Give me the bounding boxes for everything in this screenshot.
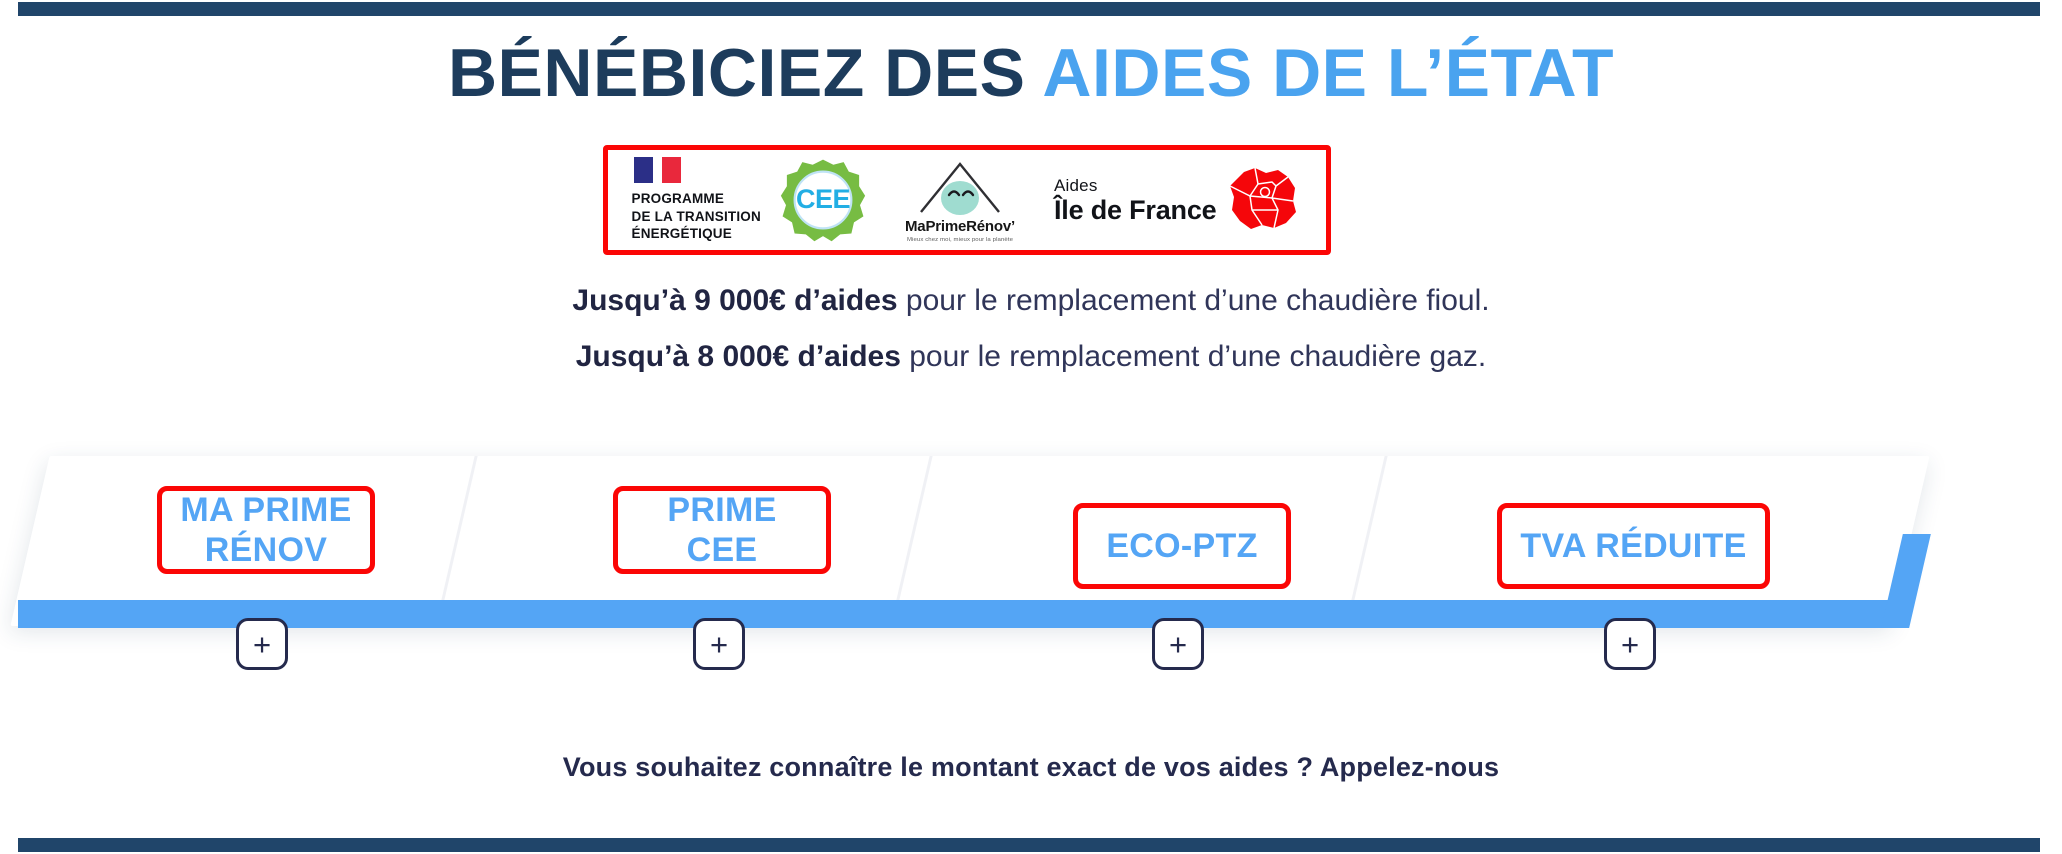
maprimerenov-name: MaPrimeRénov’ [905, 218, 1015, 235]
aid-card-prime-cee[interactable]: PRIME CEE [613, 486, 831, 574]
aid-card-label-line1: MA PRIME [180, 490, 351, 530]
aid-card-label-line1: PRIME [667, 490, 776, 530]
logo-programme-line2: DE LA TRANSITION [632, 208, 761, 226]
ile-de-france-map-icon [1222, 166, 1302, 234]
maprimerenov-tagline: Mieux chez moi, mieux pour la planète [907, 237, 1013, 242]
expand-button-tva-reduite[interactable]: + [1604, 618, 1656, 670]
maprimerenov-house-icon [913, 158, 1007, 216]
idf-big-label: Île de France [1054, 197, 1216, 224]
aid-types-panel: MA PRIME RÉNOV + PRIME CEE + ECO-PTZ + [0, 440, 2062, 660]
logo-programme-transition-energetique: PROGRAMME DE LA TRANSITION ÉNERGÉTIQUE [632, 157, 761, 243]
plus-icon: + [1621, 629, 1639, 660]
logo-programme-line3: ÉNERGÉTIQUE [632, 225, 761, 243]
expand-button-ma-prime-renov[interactable]: + [236, 618, 288, 670]
bottom-navy-rule [18, 838, 2040, 852]
top-navy-rule [18, 2, 2040, 16]
aid-card-label-line1: TVA RÉDUITE [1520, 526, 1746, 566]
page-title-light: AIDES DE L’ÉTAT [1042, 35, 1614, 111]
aides-landing-page: BÉNÉBICIEZ DES AIDES DE L’ÉTAT PROGRAMME… [0, 0, 2062, 854]
expand-button-prime-cee[interactable]: + [693, 618, 745, 670]
french-flag-icon [634, 157, 681, 183]
aid-card-label-line2: CEE [667, 530, 776, 570]
plus-icon: + [1169, 629, 1187, 660]
aid-card-tva-reduite[interactable]: TVA RÉDUITE [1497, 503, 1770, 589]
aid-amount-line-gaz: Jusqu’à 8 000€ d’aides pour le remplacem… [0, 340, 2062, 374]
aid-amount-fioul: Jusqu’à 9 000€ d’aides [572, 284, 897, 317]
logo-programme-text: PROGRAMME DE LA TRANSITION ÉNERGÉTIQUE [632, 190, 761, 243]
expand-button-eco-ptz[interactable]: + [1152, 618, 1204, 670]
aid-description-fioul: pour le remplacement d’une chaudière fio… [898, 284, 1490, 317]
plus-icon: + [253, 629, 271, 660]
aid-card-eco-ptz[interactable]: ECO-PTZ [1073, 503, 1291, 589]
cee-badge-icon: CEE [780, 157, 866, 243]
idf-small-label: Aides [1054, 177, 1216, 194]
logo-programme-line1: PROGRAMME [632, 190, 761, 208]
idf-text-block: Aides Île de France [1054, 177, 1216, 224]
page-title-dark: BÉNÉBICIEZ DES [448, 35, 1026, 111]
aid-description-gaz: pour le remplacement d’une chaudière gaz… [901, 340, 1486, 373]
page-title: BÉNÉBICIEZ DES AIDES DE L’ÉTAT [0, 38, 2062, 109]
logo-maprimerenov: MaPrimeRénov’ Mieux chez moi, mieux pour… [885, 158, 1035, 243]
aid-amount-line-fioul: Jusqu’à 9 000€ d’aides pour le remplacem… [0, 284, 2062, 318]
logo-cee: CEE [780, 157, 866, 243]
contact-prompt: Vous souhaitez connaître le montant exac… [0, 752, 2062, 783]
aid-card-ma-prime-renov[interactable]: MA PRIME RÉNOV [157, 486, 375, 574]
aid-card-label-line2: RÉNOV [180, 530, 351, 570]
logo-ile-de-france: Aides Île de France [1054, 166, 1302, 234]
aid-amount-gaz: Jusqu’à 8 000€ d’aides [576, 340, 901, 373]
plus-icon: + [710, 629, 728, 660]
aid-card-label-line1: ECO-PTZ [1106, 526, 1257, 566]
cee-label: CEE [780, 184, 866, 215]
partner-logos-bar: PROGRAMME DE LA TRANSITION ÉNERGÉTIQUE C… [603, 145, 1331, 255]
